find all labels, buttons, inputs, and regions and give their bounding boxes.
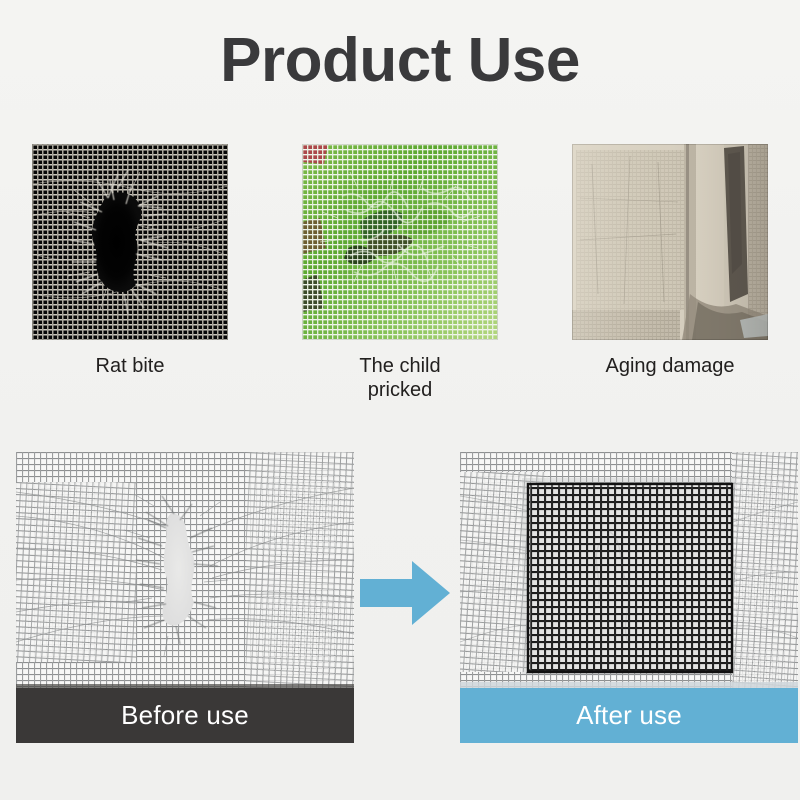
after-use-label-text: After use bbox=[576, 700, 682, 731]
damage-image-rat-bite bbox=[32, 144, 228, 340]
damage-image-aging bbox=[572, 144, 768, 340]
before-use-image bbox=[16, 452, 354, 688]
child-pricked-illustration bbox=[302, 144, 498, 340]
caption-child-pricked: The child pricked bbox=[280, 355, 520, 402]
before-use-illustration bbox=[16, 452, 354, 688]
after-use-label-bar: After use bbox=[460, 688, 798, 743]
after-use-image bbox=[460, 452, 798, 688]
damage-image-child-pricked bbox=[302, 144, 498, 340]
caption-rat-bite: Rat bite bbox=[10, 355, 250, 379]
product-use-infographic: Product Use bbox=[0, 0, 800, 800]
before-use-label-bar: Before use bbox=[16, 688, 354, 743]
right-arrow-svg bbox=[358, 557, 452, 629]
caption-rat-bite-text: Rat bite bbox=[96, 355, 165, 377]
caption-child-pricked-line2: pricked bbox=[368, 379, 432, 401]
rat-bite-illustration bbox=[32, 144, 228, 340]
right-arrow-icon bbox=[358, 557, 452, 629]
aging-damage-illustration bbox=[572, 144, 768, 340]
before-use-label-text: Before use bbox=[121, 700, 249, 731]
caption-aging-damage: Aging damage bbox=[550, 355, 790, 379]
caption-child-pricked-line1: The child bbox=[359, 355, 440, 377]
caption-aging-damage-text: Aging damage bbox=[606, 355, 735, 377]
after-use-illustration bbox=[460, 452, 798, 688]
page-title: Product Use bbox=[0, 30, 800, 92]
